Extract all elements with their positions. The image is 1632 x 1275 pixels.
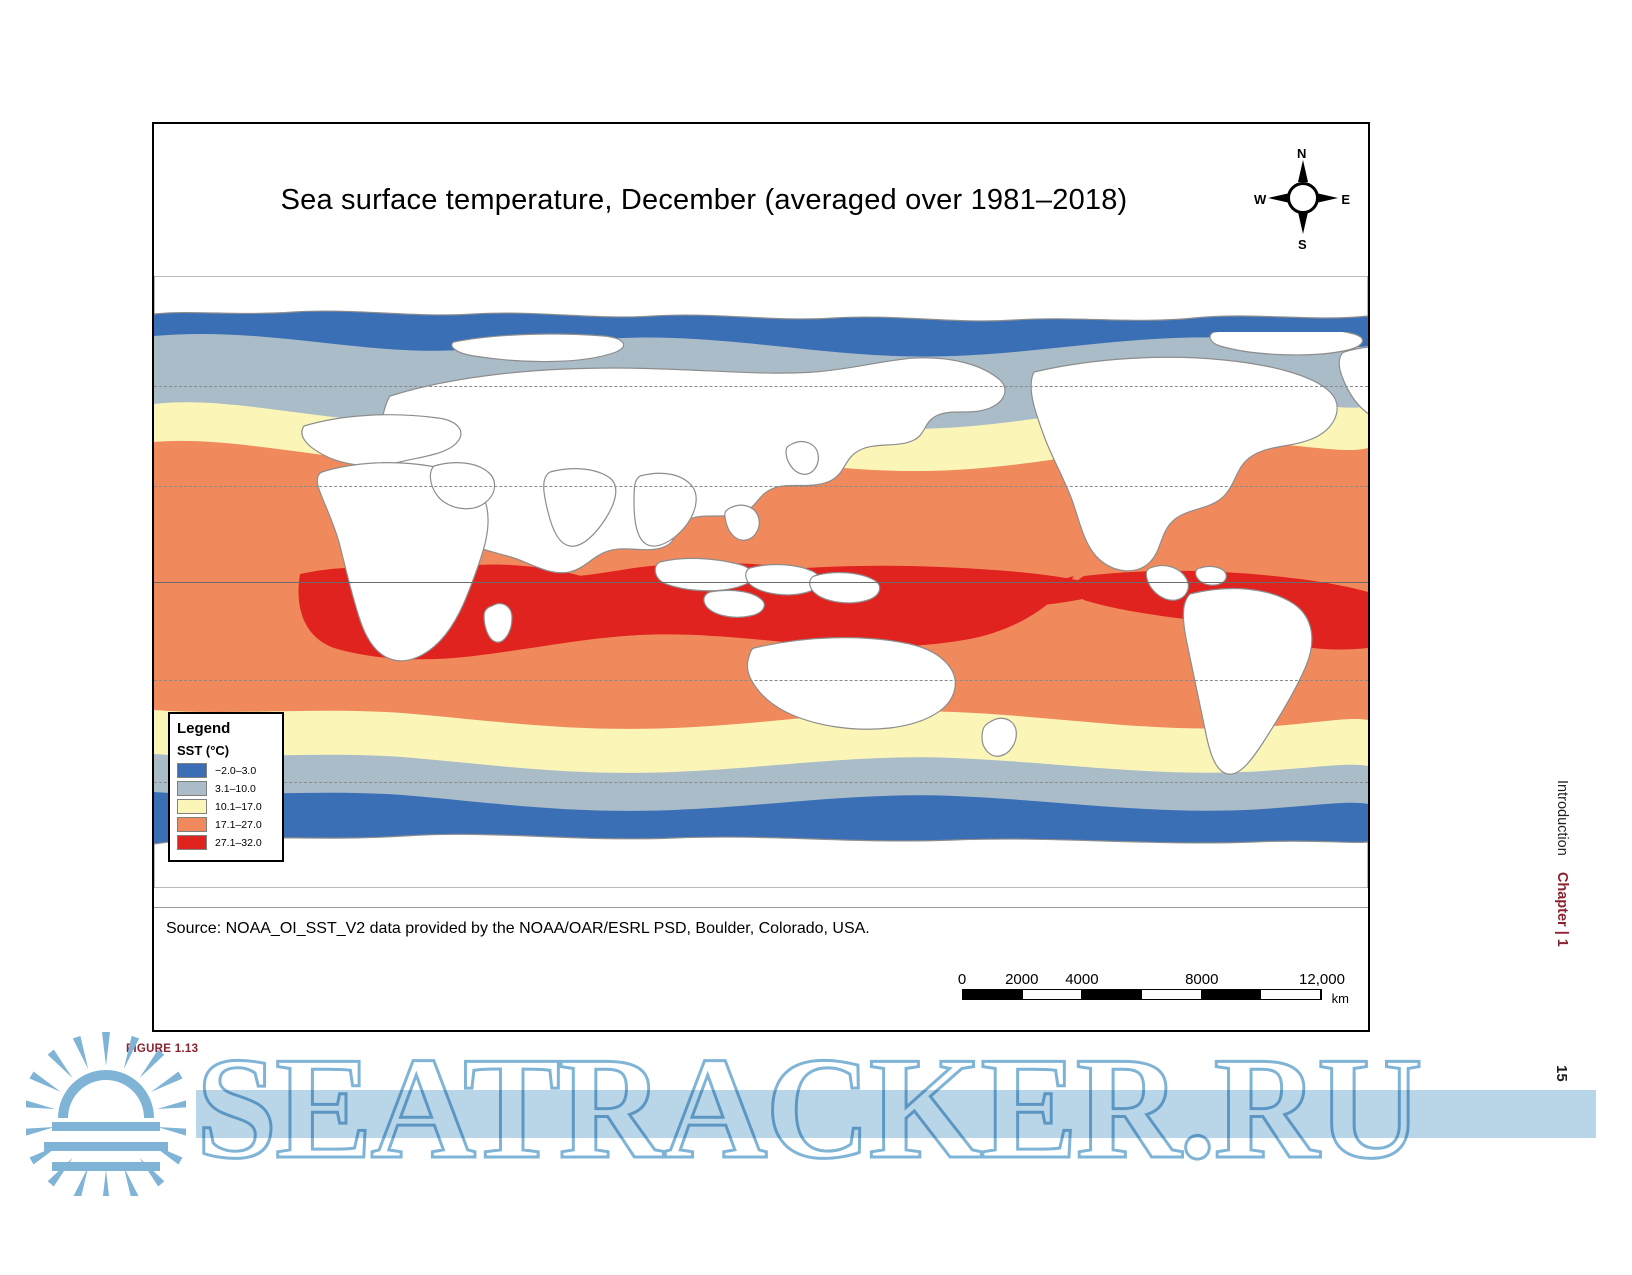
compass-south-label: S (1298, 237, 1307, 252)
scalebar-bar: km (962, 989, 1322, 1000)
map-panel: Sea surface temperature, December (avera… (152, 122, 1370, 1032)
gridline-60s (154, 782, 1368, 783)
legend-swatch-2 (177, 799, 207, 814)
gridline-60n (154, 386, 1368, 387)
watermark-sun-logo (26, 1026, 186, 1196)
watermark-text: SEATRACKER.RU (196, 1024, 1421, 1192)
tick-right-60s (1368, 782, 1370, 785)
scalebar-label-0: 0 (958, 971, 966, 988)
tick-right-30n (1368, 486, 1370, 489)
latitude-axis-left: 60°0'0"N 30°0'0"N 0°0'0" 30°0'0"S 60°0'0… (152, 124, 154, 1032)
scalebar-seg-3 (1082, 990, 1142, 999)
legend-swatch-0 (177, 763, 207, 778)
compass-needle-east-icon (1316, 193, 1338, 203)
source-divider (154, 907, 1368, 908)
legend-item-0: −2.0–3.0 (177, 763, 275, 778)
scalebar-unit: km (1332, 991, 1349, 1006)
legend-label-3: 17.1–27.0 (215, 819, 262, 831)
scalebar-label-3: 8000 (1185, 971, 1218, 988)
legend-swatch-1 (177, 781, 207, 796)
sidebar-section-label: Introduction (1554, 780, 1570, 856)
map-scalebar: 0 2000 4000 8000 12,000 km (962, 971, 1322, 1000)
latitude-axis-right: 60°0'0"N 30°0'0"N 0°0'0" 30°0'0"S 60°0'0… (1368, 124, 1370, 1032)
compass-rose-icon: N S W E (1254, 146, 1350, 252)
legend-label-4: 27.1–32.0 (215, 837, 262, 849)
legend-swatch-4 (177, 835, 207, 850)
source-note: Source: NOAA_OI_SST_V2 data provided by … (166, 920, 870, 938)
legend-item-3: 17.1–27.0 (177, 817, 275, 832)
scalebar-seg-1 (963, 990, 1023, 999)
scalebar-seg-4 (1142, 990, 1202, 999)
legend-label-1: 3.1–10.0 (215, 783, 256, 795)
compass-west-label: W (1254, 192, 1266, 207)
legend-item-2: 10.1–17.0 (177, 799, 275, 814)
scalebar-label-1: 2000 (1005, 971, 1038, 988)
legend-item-4: 27.1–32.0 (177, 835, 275, 850)
scalebar-seg-6 (1261, 990, 1321, 999)
tick-right-60n (1368, 386, 1370, 389)
legend-swatch-3 (177, 817, 207, 832)
scalebar-label-4: 12,000 (1299, 971, 1345, 988)
legend-item-1: 3.1–10.0 (177, 781, 275, 796)
compass-needle-north-icon (1298, 160, 1308, 182)
compass-ring-icon (1287, 182, 1319, 214)
sidebar-running-head: Introduction Chapter | 1 (1554, 780, 1570, 947)
legend-title: Legend (177, 720, 275, 737)
land-antarctica (154, 834, 1368, 888)
map-title: Sea surface temperature, December (avera… (154, 184, 1254, 217)
page-number: 15 (1553, 1065, 1570, 1082)
gridline-30n (154, 486, 1368, 487)
scalebar-seg-5 (1202, 990, 1262, 999)
map-legend: Legend SST (°C) −2.0–3.0 3.1–10.0 10.1–1… (168, 712, 284, 862)
tick-right-30s (1368, 680, 1370, 683)
legend-subtitle: SST (°C) (177, 743, 275, 758)
legend-label-2: 10.1–17.0 (215, 801, 262, 813)
scalebar-seg-2 (1023, 990, 1083, 999)
compass-north-label: N (1297, 146, 1306, 161)
figure-page: Sea surface temperature, December (avera… (0, 0, 1632, 1275)
compass-east-label: E (1341, 192, 1350, 207)
sidebar-chapter-label: Chapter | 1 (1554, 872, 1570, 947)
gridline-30s (154, 680, 1368, 681)
scalebar-labels: 0 2000 4000 8000 12,000 (962, 971, 1322, 989)
scalebar-label-2: 4000 (1065, 971, 1098, 988)
gridline-equator (154, 582, 1368, 583)
compass-needle-south-icon (1298, 212, 1308, 234)
legend-label-0: −2.0–3.0 (215, 765, 256, 777)
tick-right-eq (1368, 582, 1370, 585)
